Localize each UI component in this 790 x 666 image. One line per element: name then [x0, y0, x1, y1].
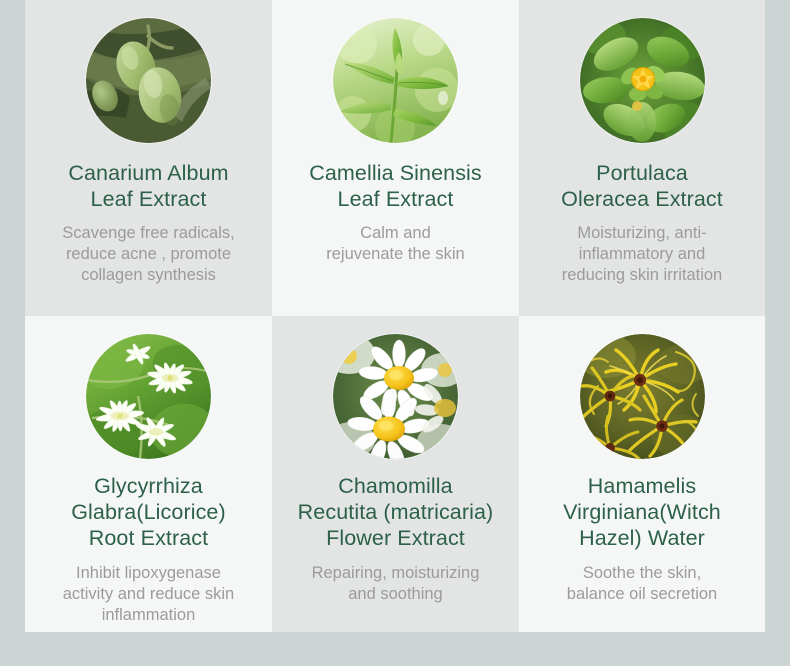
ingredient-title: Camellia Sinensis Leaf Extract [309, 160, 482, 212]
ingredient-card-portulaca-oleracea: Portulaca Oleracea Extract Moisturizing,… [519, 0, 765, 316]
ingredient-description: Calm and rejuvenate the skin [326, 223, 465, 265]
canarium-album-olive-fruit-photo [86, 18, 211, 143]
ingredient-description: Soothe the skin, balance oil secretion [567, 563, 717, 605]
ingredient-card-canarium-album: Canarium Album Leaf Extract Scavenge fre… [25, 0, 272, 316]
ingredient-title: Glycyrrhiza Glabra(Licorice) Root Extrac… [71, 473, 226, 552]
ingredient-card-chamomilla-recutita: Chamomilla Recutita (matricaria) Flower … [272, 316, 519, 632]
portulaca-oleracea-purslane-flower-photo [580, 18, 705, 143]
chamomilla-recutita-daisy-flower-photo [333, 334, 458, 459]
ingredient-title: Canarium Album Leaf Extract [68, 160, 228, 212]
ingredient-description: Repairing, moisturizing and soothing [312, 563, 480, 605]
ingredient-card-hamamelis-virginiana: Hamamelis Virginiana(Witch Hazel) Water … [519, 316, 765, 632]
hamamelis-virginiana-witch-hazel-yellow-flower-photo [580, 334, 705, 459]
ingredient-grid: Canarium Album Leaf Extract Scavenge fre… [25, 0, 765, 632]
ingredient-title: Portulaca Oleracea Extract [561, 160, 723, 212]
camellia-sinensis-green-tea-leaf-photo [333, 18, 458, 143]
ingredient-description: Scavenge free radicals, reduce acne , pr… [62, 223, 234, 286]
ingredient-description: Inhibit lipoxygenase activity and reduce… [63, 563, 235, 626]
ingredient-card-camellia-sinensis: Camellia Sinensis Leaf Extract Calm and … [272, 0, 519, 316]
ingredient-title: Chamomilla Recutita (matricaria) Flower … [298, 473, 494, 552]
ingredient-card-glycyrrhiza-glabra: Glycyrrhiza Glabra(Licorice) Root Extrac… [25, 316, 272, 632]
ingredient-description: Moisturizing, anti- inflammatory and red… [562, 223, 723, 286]
ingredient-title: Hamamelis Virginiana(Witch Hazel) Water [563, 473, 721, 552]
glycyrrhiza-glabra-licorice-white-flower-photo [86, 334, 211, 459]
